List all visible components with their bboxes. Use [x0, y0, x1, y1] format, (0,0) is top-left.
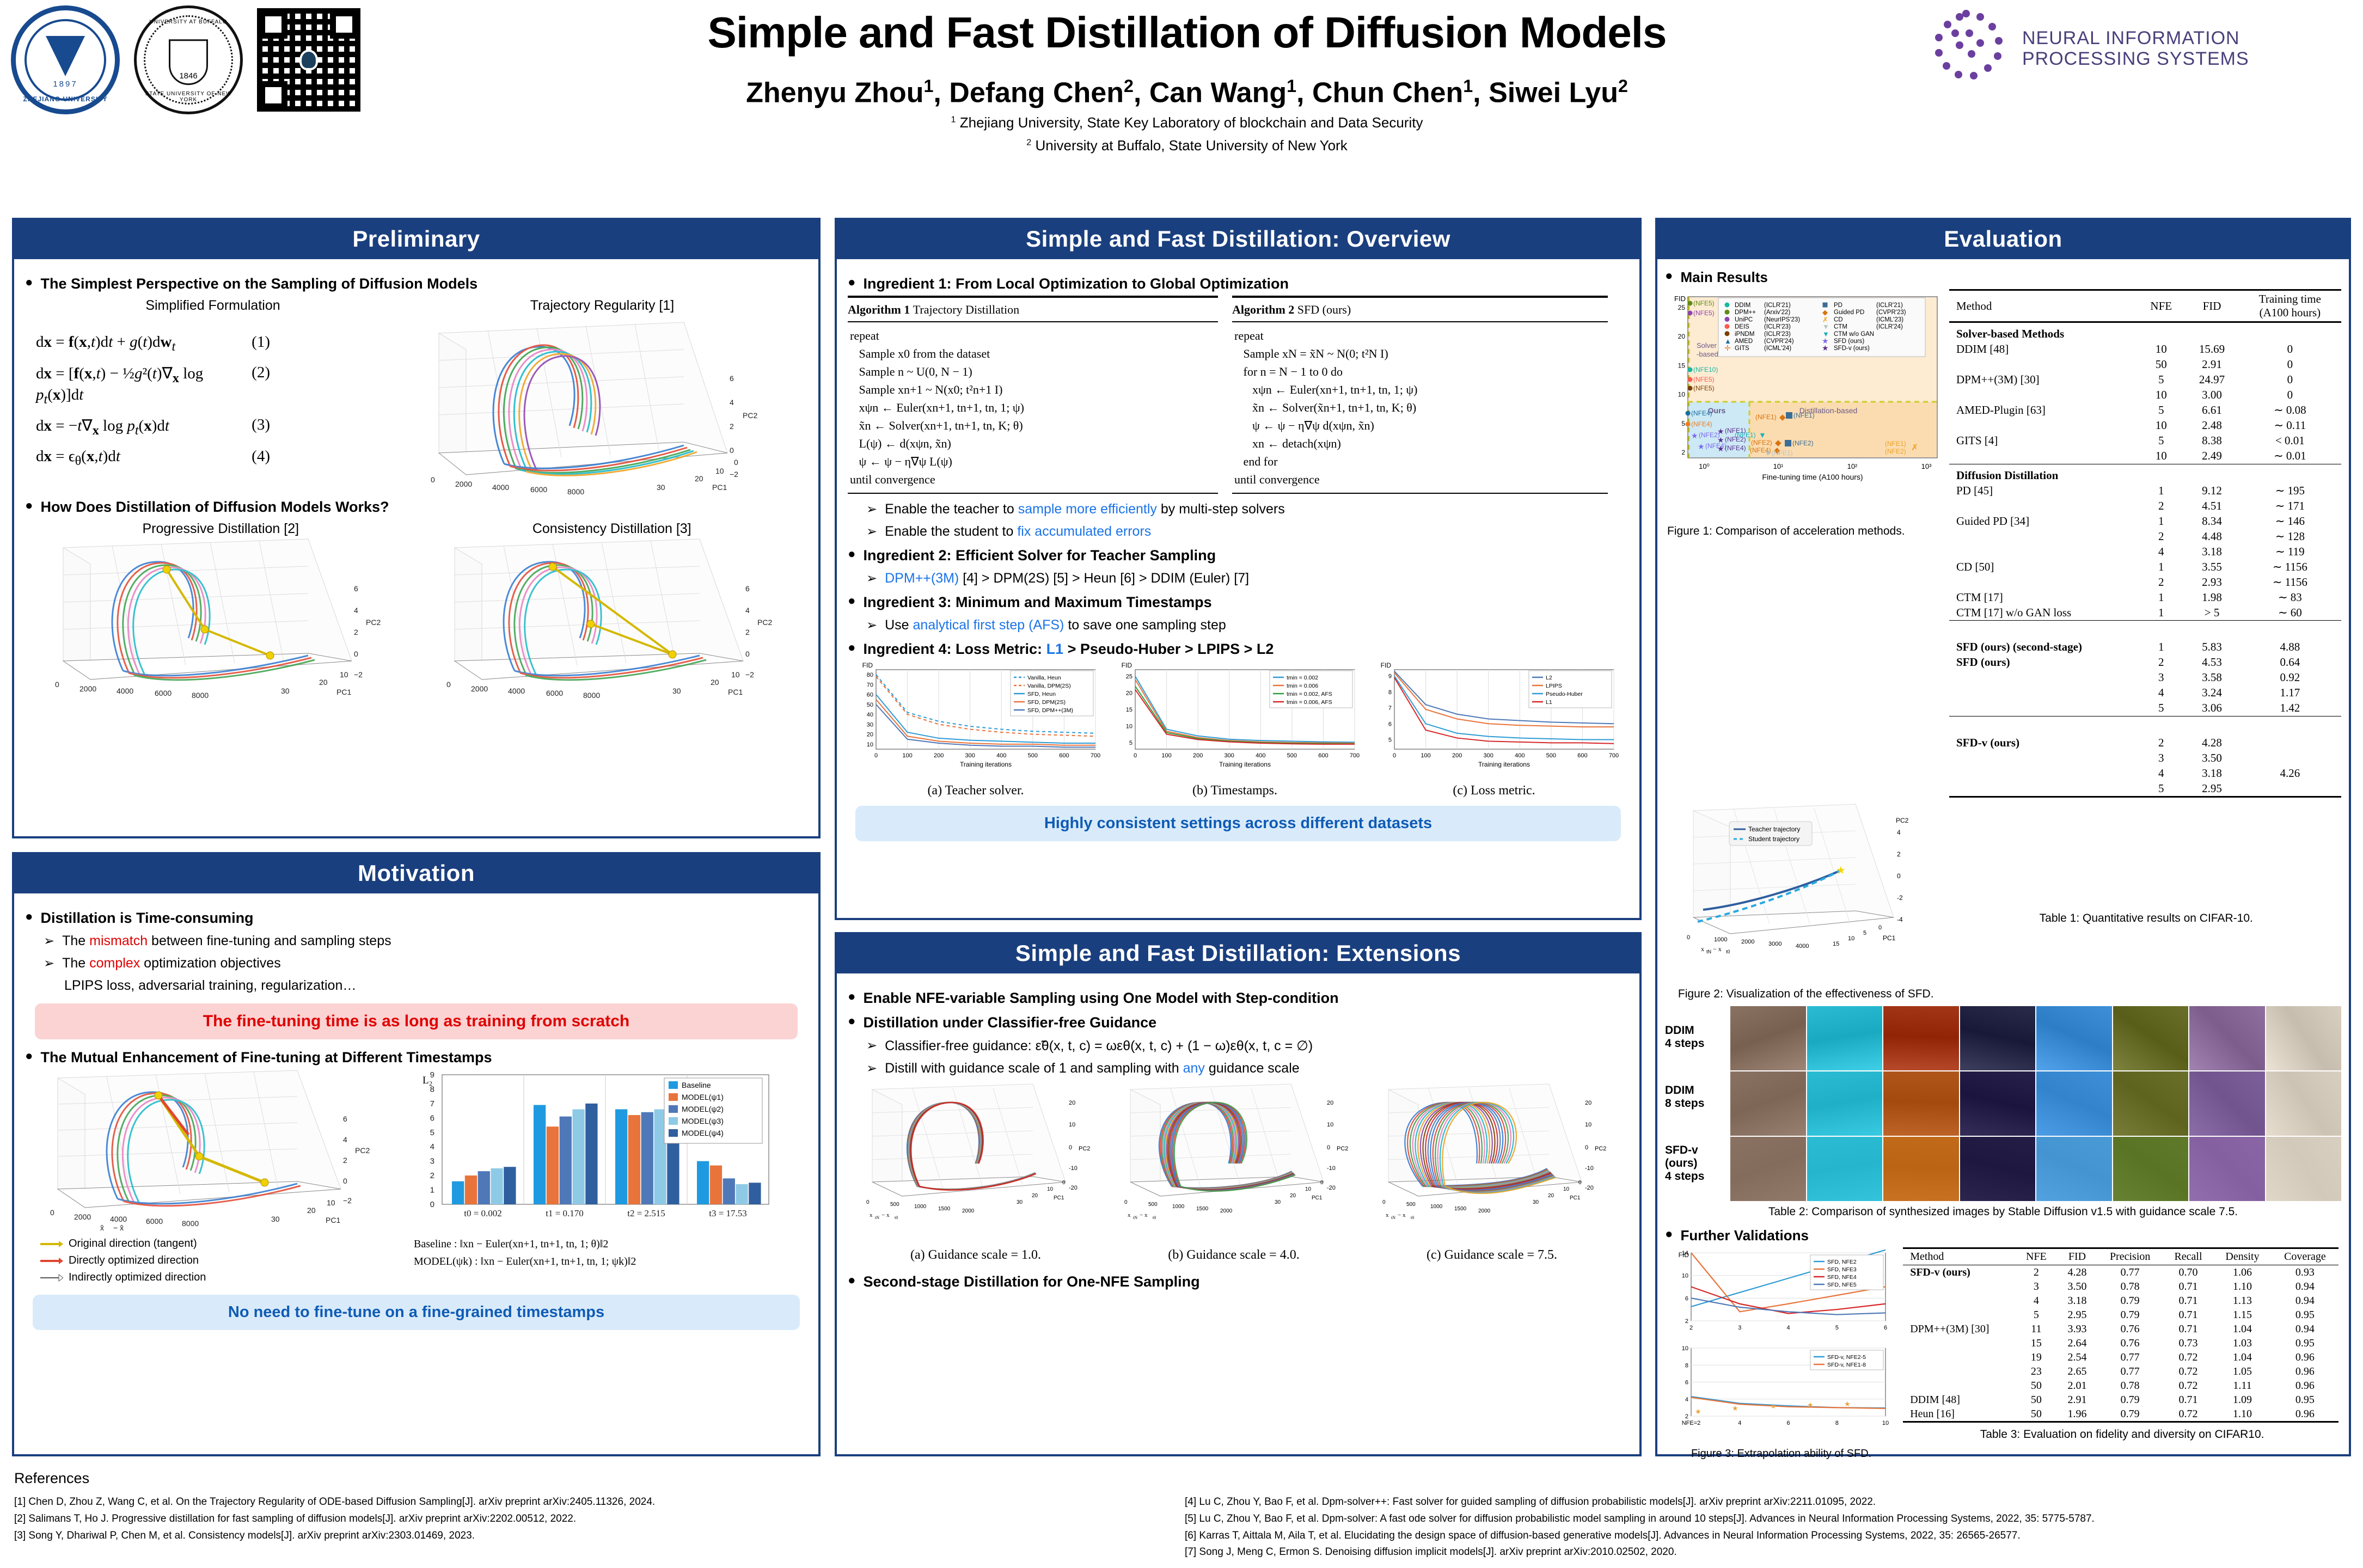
- svg-text:L2: L2: [1546, 675, 1552, 681]
- bullet-dot-icon: ●: [1665, 269, 1673, 283]
- svg-text:tmin = 0.006, AFS: tmin = 0.006, AFS: [1287, 699, 1332, 706]
- svg-text:x̂: x̂: [100, 1223, 104, 1232]
- svg-text:SFD, NFE4: SFD, NFE4: [1827, 1274, 1857, 1281]
- extensions-bullet-2-text: Distillation under Classifier-free Guida…: [864, 1014, 1157, 1031]
- svg-text:(ICLR'23): (ICLR'23): [1764, 331, 1791, 338]
- svg-text:DPM++: DPM++: [1735, 309, 1756, 316]
- synthesized-image: [1960, 1071, 2036, 1136]
- svg-text:t1 = 0.170: t1 = 0.170: [546, 1208, 584, 1218]
- svg-text:30: 30: [657, 483, 665, 492]
- legend-item-original: Original direction (tangent): [39, 1235, 406, 1252]
- svg-text:t0 = 0.002: t0 = 0.002: [464, 1208, 502, 1218]
- svg-text:CTM w/o GAN: CTM w/o GAN: [1834, 331, 1874, 338]
- svg-text:t0: t0: [1153, 1215, 1156, 1220]
- bullet-dot-icon: ●: [848, 1273, 856, 1288]
- svg-text:(NFE5): (NFE5): [1693, 384, 1715, 392]
- row-label-ddim-8: DDIM8 steps: [1665, 1084, 1726, 1110]
- timestamp-bar-svg: BaselineMODEL(ψ1)MODEL(ψ2)MODEL(ψ3)MODEL…: [409, 1069, 796, 1233]
- svg-text:PC1: PC1: [1883, 934, 1896, 942]
- svg-text:SFD, NFE5: SFD, NFE5: [1827, 1282, 1857, 1288]
- ablation-chart-c: 010020030040050060070056789FIDTraining i…: [1366, 662, 1622, 798]
- overview-heading: Simple and Fast Distillation: Overview: [837, 220, 1639, 259]
- svg-text:5: 5: [430, 1128, 434, 1137]
- svg-text:t2 = 2.515: t2 = 2.515: [627, 1208, 665, 1218]
- guidance-plot-c: 20100-10-20PC205001000150020003020100PC1…: [1364, 1083, 1620, 1263]
- svg-text:x: x: [870, 1212, 873, 1218]
- svg-text:★: ★: [1844, 1400, 1851, 1408]
- svg-text:FID: FID: [1674, 295, 1686, 303]
- svg-text:30: 30: [1533, 1199, 1539, 1205]
- svg-text:4: 4: [1738, 1420, 1741, 1426]
- svg-text:500: 500: [1028, 752, 1038, 759]
- svg-text:1500: 1500: [938, 1206, 951, 1212]
- overview-ingredient-3: ● Ingredient 3: Minimum and Maximum Time…: [848, 594, 1629, 611]
- bar-ylabel: L₂: [423, 1075, 432, 1086]
- overview-body: ● Ingredient 1: From Local Optimization …: [837, 259, 1639, 859]
- svg-text:tmin = 0.006: tmin = 0.006: [1287, 683, 1318, 689]
- svg-text:4000: 4000: [492, 483, 509, 492]
- svg-text:4: 4: [430, 1142, 434, 1151]
- svg-text:500: 500: [1546, 752, 1556, 759]
- svg-text:FID: FID: [1679, 1251, 1689, 1259]
- bullet-dot-icon: ●: [25, 1049, 33, 1063]
- svg-text:25: 25: [1678, 304, 1686, 311]
- panel-extensions: Simple and Fast Distillation: Extensions…: [835, 932, 1642, 1456]
- svg-text:(NFE1): (NFE1): [1793, 412, 1815, 419]
- svg-text:PD: PD: [1834, 302, 1842, 309]
- svg-text:DDIM: DDIM: [1735, 302, 1750, 309]
- bullet-dot-icon: ●: [1665, 1227, 1673, 1241]
- bullet-dot-icon: ●: [848, 547, 856, 561]
- svg-text:-20: -20: [1327, 1185, 1336, 1191]
- motivation-point-3: LPIPS loss, adversarial training, regula…: [64, 978, 807, 994]
- svg-text:2: 2: [1685, 1318, 1688, 1325]
- svg-text:10²: 10²: [1847, 462, 1858, 470]
- bullet-dot-icon: ●: [25, 275, 33, 290]
- overview-arrow-4-text: Use analytical first step (AFS) to save …: [885, 617, 1226, 633]
- synthesized-image: [1807, 1137, 1883, 1201]
- svg-text:(NFE5): (NFE5): [1693, 309, 1715, 317]
- mutual-enhancement-legend: Original direction (tangent) Directly op…: [39, 1235, 406, 1286]
- svg-text:0: 0: [730, 446, 734, 455]
- table-2-caption: Table 2: Comparison of synthesized image…: [1665, 1205, 2341, 1218]
- reference-item: [4] Lu C, Zhou Y, Bao F, et al. Dpm-solv…: [1185, 1494, 2355, 1511]
- svg-text:2: 2: [354, 628, 358, 636]
- svg-text:8: 8: [1685, 1362, 1688, 1369]
- svg-text:(ICLR'23): (ICLR'23): [1764, 324, 1791, 330]
- svg-text:LPIPS: LPIPS: [1546, 683, 1562, 689]
- motivation-point-1: ➢ The mismatch between fine-tuning and s…: [44, 933, 807, 949]
- svg-text:4: 4: [343, 1135, 347, 1144]
- extensions-bullet-2: ● Distillation under Classifier-free Gui…: [848, 1014, 1629, 1031]
- svg-text:− x̂: − x̂: [512, 700, 523, 700]
- svg-text:6: 6: [1685, 1295, 1688, 1302]
- svg-text:1500: 1500: [1196, 1206, 1209, 1212]
- svg-text:10: 10: [1848, 935, 1854, 942]
- svg-text:8000: 8000: [182, 1219, 199, 1228]
- synthesized-image: [1883, 1006, 1959, 1070]
- svg-text:(NFE5): (NFE5): [1693, 299, 1715, 307]
- svg-text:20: 20: [1585, 1100, 1591, 1106]
- svg-text:PC1: PC1: [1570, 1195, 1581, 1201]
- svg-text:★: ★: [1698, 442, 1705, 451]
- svg-text:0: 0: [1382, 1199, 1386, 1205]
- svg-text:400: 400: [996, 752, 1006, 759]
- bullet-dot-icon: ●: [25, 499, 33, 513]
- svg-text:✗: ✗: [1911, 443, 1918, 452]
- ablation-chart-b: 0100200300400500600700510152025FIDTraini…: [1107, 662, 1363, 798]
- references-section: References [1] Chen D, Zhou Z, Wang C, e…: [14, 1470, 2355, 1492]
- svg-text:-10: -10: [1069, 1165, 1078, 1172]
- svg-text:6: 6: [1685, 1380, 1688, 1386]
- svg-text:600: 600: [1318, 752, 1328, 759]
- svg-text:Training iterations: Training iterations: [1219, 761, 1271, 768]
- svg-text:6: 6: [1884, 1325, 1887, 1331]
- svg-text:0: 0: [1134, 752, 1137, 759]
- svg-text:-10: -10: [1327, 1165, 1336, 1172]
- extensions-bullet-3: ● Second-stage Distillation for One-NFE …: [848, 1273, 1629, 1290]
- svg-text:600: 600: [1059, 752, 1069, 759]
- qr-code[interactable]: [257, 8, 360, 112]
- ingredient-1-text: Ingredient 1: From Local Optimization to…: [864, 275, 1289, 292]
- evaluation-heading: Evaluation: [1657, 220, 2349, 259]
- bullet-dot-icon: ●: [848, 275, 856, 290]
- row-label-ddim-4: DDIM4 steps: [1665, 1024, 1726, 1050]
- overview-ingredient-4: ● Ingredient 4: Loss Metric: L1 > Pseudo…: [848, 641, 1629, 658]
- svg-text:NFE=2: NFE=2: [1682, 1420, 1701, 1426]
- extensions-bullet-3-text: Second-stage Distillation for One-NFE Sa…: [864, 1273, 1200, 1290]
- svg-text:(ICLR'21): (ICLR'21): [1876, 302, 1903, 309]
- svg-text:MODEL(ψ1): MODEL(ψ1): [682, 1093, 724, 1101]
- motivation-point-2-text: The complex optimization objectives: [62, 955, 281, 971]
- author-list: Zhenyu Zhou1, Defang Chen2, Can Wang1, C…: [588, 76, 1786, 109]
- svg-text:PC2: PC2: [757, 618, 772, 627]
- svg-text:PC2: PC2: [355, 1146, 370, 1155]
- svg-text:10: 10: [1563, 1186, 1570, 1192]
- svg-text:L1: L1: [1546, 699, 1552, 706]
- image-row-1: [1730, 1006, 2341, 1070]
- svg-text:0: 0: [745, 650, 750, 658]
- svg-text:PC1: PC1: [1054, 1195, 1064, 1201]
- figure-3: 26101423456SFD, NFE2SFD, NFE3SFD, NFE4SF…: [1665, 1247, 1897, 1460]
- algorithm-1-title: Algorithm 1 Trajectory Distillation: [848, 296, 1218, 322]
- svg-text:20: 20: [1678, 333, 1686, 340]
- svg-text:PC1: PC1: [336, 688, 351, 696]
- svg-text:★: ★: [1807, 1401, 1814, 1409]
- svg-text:− x̂: − x̂: [113, 1223, 124, 1232]
- table-3-element: MethodNFEFIDPrecisionRecallDensityCovera…: [1903, 1247, 2338, 1423]
- extensions-heading: Simple and Fast Distillation: Extensions: [837, 934, 1639, 973]
- svg-text:10: 10: [1678, 391, 1686, 399]
- reference-item: [3] Song Y, Dhariwal P, Chen M, et al. C…: [14, 1528, 1158, 1545]
- extensions-arrow-2-text: Distill with guidance scale of 1 and sam…: [885, 1061, 1300, 1076]
- further-validations-text: Further Validations: [1681, 1227, 1809, 1244]
- references-left-column: [1] Chen D, Zhou Z, Wang C, et al. On th…: [14, 1494, 1158, 1544]
- svg-text:20: 20: [1548, 1193, 1554, 1199]
- svg-text:Student trajectory: Student trajectory: [1748, 835, 1799, 843]
- ablation-caption-a: (a) Teacher solver.: [848, 783, 1104, 798]
- svg-text:700: 700: [1609, 752, 1619, 759]
- svg-text:Pseudo-Huber: Pseudo-Huber: [1546, 691, 1583, 697]
- ingredient-3-text: Ingredient 3: Minimum and Maximum Timest…: [864, 594, 1212, 611]
- svg-text:10: 10: [1585, 1122, 1591, 1128]
- evaluation-bullet-further: ● Further Validations: [1665, 1227, 2341, 1244]
- overview-footer-note: Highly consistent settings across differ…: [855, 806, 1621, 841]
- arrow-icon: ➢: [866, 617, 877, 633]
- svg-text:MODEL(ψ4): MODEL(ψ4): [682, 1129, 724, 1137]
- svg-text:PC2: PC2: [1079, 1146, 1090, 1152]
- svg-text:7: 7: [430, 1099, 434, 1108]
- algorithm-2-box: Algorithm 2 SFD (ours) repeat Sample xN …: [1232, 296, 1608, 495]
- svg-text:PC2: PC2: [743, 411, 757, 420]
- svg-text:FID: FID: [1381, 662, 1392, 669]
- overview-arrow-1-text: Enable the teacher to sample more effici…: [885, 501, 1285, 517]
- synthesized-image: [1807, 1006, 1883, 1070]
- svg-text:10: 10: [1682, 1345, 1688, 1352]
- svg-text:SFD, DPM(2S): SFD, DPM(2S): [1027, 699, 1066, 706]
- overview-arrow-4: ➢ Use analytical first step (AFS) to sav…: [866, 617, 1629, 633]
- svg-text:6: 6: [745, 584, 750, 593]
- svg-text:10: 10: [1069, 1122, 1075, 1128]
- guidance-plot-b: 20100-10-20PC205001000150020003020100PC1…: [1106, 1083, 1362, 1263]
- reference-item: [6] Karras T, Aittala M, Aila T, et al. …: [1185, 1528, 2355, 1545]
- svg-text:CD: CD: [1834, 316, 1843, 323]
- affiliation-2: 2 University at Buffalo, State Universit…: [588, 137, 1786, 154]
- synthesized-image: [2266, 1137, 2342, 1201]
- algorithm-2-body: repeat Sample xN = x̃N ~ N(0; t²N I) for…: [1232, 322, 1608, 489]
- neurips-dots-icon: [1930, 8, 2011, 89]
- svg-text:4000: 4000: [117, 687, 133, 695]
- guidance-caption-c: (c) Guidance scale = 7.5.: [1364, 1248, 1620, 1263]
- figure-2: ★Teacher trajectoryStudent trajectory420…: [1665, 801, 1946, 1001]
- synthesized-image: [2113, 1137, 2189, 1201]
- svg-text:20: 20: [1327, 1100, 1333, 1106]
- svg-text:500: 500: [890, 1202, 899, 1208]
- svg-text:10: 10: [867, 742, 873, 748]
- svg-text:6: 6: [343, 1114, 347, 1123]
- svg-text:0: 0: [1069, 1144, 1072, 1151]
- references-right-column: [4] Lu C, Zhou Y, Bao F, et al. Dpm-solv…: [1185, 1494, 2355, 1561]
- svg-text:(NFE4): (NFE4): [1691, 420, 1712, 428]
- figure-3-bottom-svg: 246810NFE=246810SFD-v, NFE2-5SFD-v, NFE1…: [1665, 1343, 1894, 1441]
- svg-text:2: 2: [1897, 850, 1901, 858]
- svg-text:0: 0: [734, 458, 738, 467]
- synthesized-image: [2036, 1071, 2112, 1136]
- table-1: MethodNFEFIDTraining time(A100 hours)Sol…: [1949, 289, 2341, 798]
- svg-text:70: 70: [867, 682, 873, 688]
- svg-text:300: 300: [1484, 752, 1493, 759]
- svg-text:1000: 1000: [1172, 1204, 1185, 1210]
- svg-text:SFD-v (ours): SFD-v (ours): [1834, 345, 1870, 352]
- algorithm-1-rule: [848, 493, 1218, 495]
- svg-text:15: 15: [1678, 362, 1686, 369]
- svg-text:SFD (ours): SFD (ours): [1834, 338, 1864, 345]
- motivation-bullet-2: ● The Mutual Enhancement of Fine-tuning …: [25, 1049, 807, 1066]
- svg-text:UniPC: UniPC: [1735, 316, 1753, 323]
- baseline-formula: Baseline : ‖xn − Euler(xn+1, tn+1, tn, 1…: [414, 1235, 801, 1253]
- arrow-icon: ➢: [866, 524, 877, 540]
- overview-ingredient-1: ● Ingredient 1: From Local Optimization …: [848, 275, 1629, 292]
- svg-text:15: 15: [1126, 707, 1132, 713]
- figure-2-caption: Figure 2: Visualization of the effective…: [1665, 988, 1946, 1001]
- model-formula: MODEL(ψk) : ‖xn − Euler(xn+1, tn+1, tn, …: [414, 1253, 801, 1270]
- panel-evaluation: Evaluation ● Main Results OursDistillati…: [1655, 218, 2351, 1456]
- svg-text:100: 100: [1161, 752, 1171, 759]
- svg-text:2000: 2000: [1220, 1208, 1233, 1214]
- svg-text:30: 30: [281, 687, 290, 695]
- arrow-icon: ➢: [866, 501, 877, 517]
- svg-text:tN: tN: [875, 1215, 879, 1220]
- svg-text:-4: -4: [1897, 916, 1903, 923]
- svg-text:(ICML'24): (ICML'24): [1764, 345, 1791, 352]
- svg-text:▼: ▼: [1764, 449, 1772, 457]
- svg-text:-10: -10: [1585, 1165, 1594, 1172]
- svg-text:0: 0: [431, 475, 435, 484]
- arrow-icon: ➢: [866, 571, 877, 586]
- zju-year: 1897: [16, 79, 115, 89]
- panel-preliminary: Preliminary ● The Simplest Perspective o…: [12, 218, 821, 838]
- figure-1-svg: OursDistillation-basedSolver-basedFID251…: [1665, 289, 1943, 518]
- svg-text:1000: 1000: [1430, 1204, 1443, 1210]
- svg-text:4: 4: [354, 606, 358, 615]
- svg-text:(NFE2): (NFE2): [1792, 439, 1814, 447]
- svg-text:80: 80: [867, 672, 873, 678]
- svg-text:2: 2: [1681, 449, 1685, 456]
- svg-text:30: 30: [867, 721, 873, 728]
- svg-text:25: 25: [1126, 673, 1132, 680]
- motivation-bullet-2-text: The Mutual Enhancement of Fine-tuning at…: [41, 1049, 492, 1066]
- svg-text:PC1: PC1: [712, 483, 727, 492]
- svg-text:10: 10: [1682, 1273, 1688, 1279]
- synthesized-image: [2266, 1006, 2342, 1070]
- svg-text:PC2: PC2: [1896, 817, 1909, 824]
- synthesized-image: [1960, 1006, 2036, 1070]
- svg-text:t0: t0: [895, 1215, 898, 1220]
- svg-text:6: 6: [430, 1113, 434, 1123]
- svg-text:SFD, Heun: SFD, Heun: [1027, 691, 1056, 697]
- svg-text:8: 8: [1388, 689, 1392, 696]
- logo-row: 1897 ZHEJIANG UNIVERSITY UNIVERSITY AT B…: [11, 5, 360, 114]
- overview-arrow-1: ➢ Enable the teacher to sample more effi…: [866, 501, 1629, 517]
- svg-text:10: 10: [340, 670, 348, 679]
- algorithm-2-rule: [1232, 493, 1608, 495]
- svg-text:SFD-v, NFE2-5: SFD-v, NFE2-5: [1827, 1354, 1866, 1361]
- svg-text:(ICML'23): (ICML'23): [1876, 316, 1903, 323]
- svg-text:1000: 1000: [1714, 936, 1727, 943]
- svg-text:10: 10: [731, 670, 740, 679]
- svg-text:− x̂: − x̂: [497, 496, 507, 497]
- svg-text:MODEL(ψ3): MODEL(ψ3): [682, 1117, 724, 1125]
- svg-text:(CVPR'24): (CVPR'24): [1764, 338, 1794, 345]
- synthesized-image: [2113, 1006, 2189, 1070]
- svg-text:(NFE2): (NFE2): [1885, 448, 1906, 455]
- svg-text:3000: 3000: [1768, 941, 1782, 947]
- svg-text:40: 40: [867, 712, 873, 718]
- svg-text:GITS: GITS: [1735, 345, 1749, 352]
- svg-text:(NFE1): (NFE1): [1735, 431, 1756, 439]
- svg-text:6: 6: [730, 374, 734, 383]
- svg-text:(CVPR'23): (CVPR'23): [1876, 309, 1906, 316]
- svg-text:5: 5: [1681, 420, 1685, 427]
- svg-text:DEIS: DEIS: [1735, 324, 1749, 330]
- svg-text:20: 20: [307, 1206, 316, 1215]
- synthesized-image: [1883, 1071, 1959, 1136]
- mutual-enhancement-plot: 64 20−2 PC2 020004000 60008000 302010 PC…: [25, 1069, 406, 1286]
- svg-text:(NFE5): (NFE5): [1693, 376, 1715, 383]
- timestamp-bar-chart: BaselineMODEL(ψ1)MODEL(ψ2)MODEL(ψ3)MODEL…: [409, 1069, 801, 1286]
- svg-text:20: 20: [695, 474, 703, 483]
- svg-text:0: 0: [1585, 1144, 1588, 1151]
- svg-text:0: 0: [1687, 934, 1690, 941]
- overview-arrow-2: ➢ Enable the student to fix accumulated …: [866, 524, 1629, 540]
- svg-text:3: 3: [1738, 1325, 1741, 1331]
- svg-text:10: 10: [715, 467, 724, 475]
- synthesized-image: [2036, 1137, 2112, 1201]
- svg-text:Fine-tuning time (A100 hours): Fine-tuning time (A100 hours): [1762, 473, 1863, 481]
- svg-text:t3 = 17.53: t3 = 17.53: [709, 1208, 747, 1218]
- svg-text:2000: 2000: [1741, 939, 1754, 945]
- svg-text:4: 4: [745, 606, 750, 615]
- panel-overview: Simple and Fast Distillation: Overview ●…: [835, 218, 1642, 920]
- svg-text:FID: FID: [1122, 662, 1132, 669]
- ingredient-4-text: Ingredient 4: Loss Metric: L1 > Pseudo-H…: [864, 641, 1274, 658]
- guidance-plot-a: 20100-10-20PC205001000150020003020100PC1…: [848, 1083, 1104, 1263]
- overview-arrow-2-text: Enable the student to fix accumulated er…: [885, 524, 1151, 540]
- svg-text:SFD, NFE3: SFD, NFE3: [1827, 1266, 1857, 1273]
- svg-text:600: 600: [1577, 752, 1587, 759]
- svg-text:Teacher trajectory: Teacher trajectory: [1748, 825, 1800, 833]
- svg-text:(NFE10): (NFE10): [1693, 366, 1718, 373]
- main-results-text: Main Results: [1681, 269, 1768, 286]
- svg-text:x: x: [1386, 1212, 1389, 1218]
- motivation-body: ● Distillation is Time-consuming ➢ The m…: [14, 893, 818, 1347]
- svg-text:−2: −2: [343, 1196, 352, 1205]
- evaluation-bullet-main: ● Main Results: [1665, 269, 2341, 286]
- svg-text:4: 4: [1786, 1325, 1790, 1331]
- svg-text:−2: −2: [730, 470, 738, 479]
- svg-text:6000: 6000: [546, 689, 563, 697]
- qr-finder-bl: [259, 81, 287, 109]
- motivation-bottom-note: No need to fine-tune on a fine-grained t…: [33, 1295, 800, 1330]
- synthesized-image: [2266, 1071, 2342, 1136]
- buffalo-university-logo: UNIVERSITY AT BUFFALO 1846 STATE UNIVERS…: [134, 5, 243, 114]
- overview-arrow-3: ➢ DPM++(3M) [4] > DPM(2S) [5] > Heun [6]…: [866, 571, 1629, 586]
- overview-arrow-3-text: DPM++(3M) [4] > DPM(2S) [5] > Heun [6] >…: [885, 571, 1249, 586]
- references-heading: References: [14, 1470, 2355, 1487]
- image-row-2: [1730, 1071, 2341, 1136]
- svg-text:0: 0: [430, 1200, 434, 1209]
- svg-text:2000: 2000: [962, 1208, 975, 1214]
- svg-text:(NFE4): (NFE4): [1725, 444, 1746, 452]
- svg-text:10⁰: 10⁰: [1699, 462, 1710, 470]
- svg-text:300: 300: [965, 752, 975, 759]
- trajectory-regularity-label: Trajectory Regularity [1]: [401, 298, 804, 314]
- ablation-caption-b: (b) Timestamps.: [1107, 783, 1363, 798]
- qr-finder-tl: [259, 10, 287, 39]
- preliminary-bullet-1-text: The Simplest Perspective on the Sampling…: [41, 275, 478, 292]
- poster-header: 1897 ZHEJIANG UNIVERSITY UNIVERSITY AT B…: [0, 0, 2363, 201]
- svg-text:6: 6: [354, 584, 358, 593]
- svg-text:0: 0: [866, 1199, 870, 1205]
- motivation-point-2: ➢ The complex optimization objectives: [44, 955, 807, 971]
- svg-text:Vanilla, DPM(2S): Vanilla, DPM(2S): [1027, 683, 1071, 689]
- synthesized-image: [2113, 1071, 2189, 1136]
- figure-1-caption: Figure 1: Comparison of acceleration met…: [1667, 525, 1945, 538]
- ablation-caption-c: (c) Loss metric.: [1366, 783, 1622, 798]
- svg-text:20: 20: [1032, 1193, 1038, 1199]
- svg-text:− x̂: − x̂: [121, 700, 131, 700]
- svg-text:0: 0: [343, 1177, 347, 1185]
